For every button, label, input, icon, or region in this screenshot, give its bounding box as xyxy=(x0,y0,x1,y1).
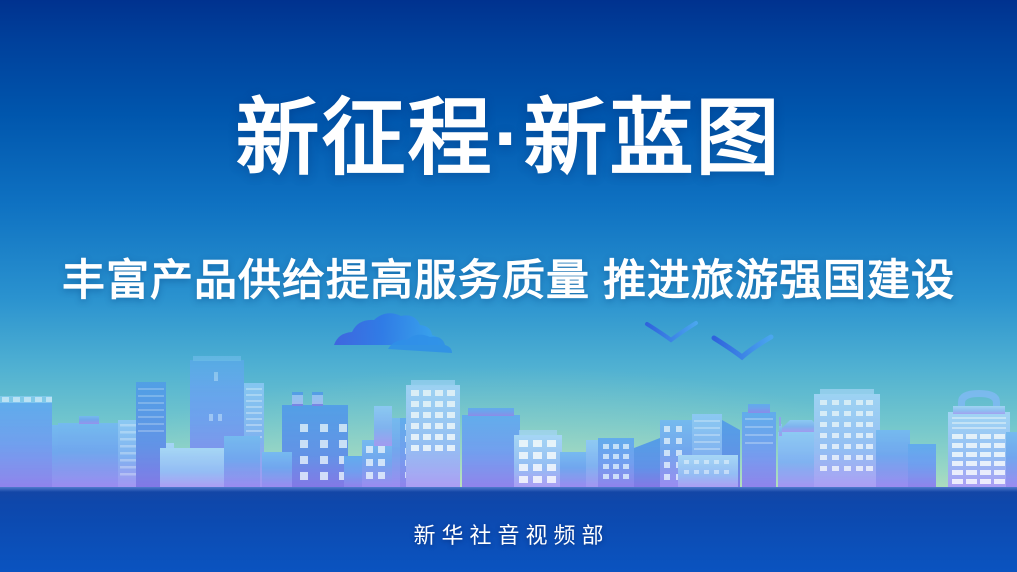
publisher-credit: 新华社音视频部 xyxy=(0,518,1017,550)
page-subtitle: 丰富产品供给提高服务质量 推进旅游强国建设 xyxy=(0,260,1017,303)
title-card: 新征程·新蓝图 丰富产品供给提高服务质量 推进旅游强国建设 新华社音视频部 xyxy=(0,0,1017,572)
page-title: 新征程·新蓝图 xyxy=(0,96,1017,180)
